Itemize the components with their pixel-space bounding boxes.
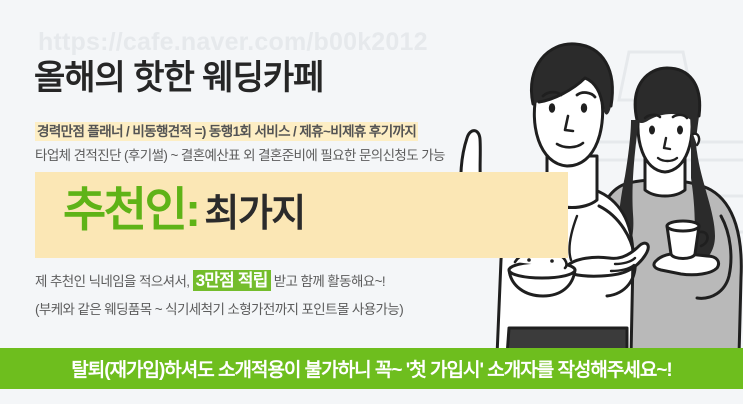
note-line-1-before: 제 추천인 닉네임을 적으셔서, bbox=[35, 274, 189, 289]
note-line-2: (부케와 같은 웨딩품목 ~ 식기세척기 소형가전까지 포인트몰 사용가능) bbox=[35, 298, 403, 318]
recommender-content: 추천인:최가지 bbox=[63, 186, 305, 233]
subtitle-line-2: 타업체 견적진단 (후기썰) ~ 결혼예산표 외 결혼준비에 필요한 문의신청도… bbox=[35, 144, 445, 164]
page-title: 올해의 핫한 웨딩카페 bbox=[34, 50, 323, 99]
subtitle-line-1-text: 경력만점 플래너 / 비동행견적 =) 동행1회 서비스 / 제휴~비제휴 후기… bbox=[35, 122, 418, 141]
footer-strip bbox=[0, 389, 743, 404]
recommender-name: 최가지 bbox=[204, 193, 304, 235]
promo-banner: https://cafe.naver.com/b00k2012 올해의 핫한 웨… bbox=[0, 0, 743, 404]
note-line-1: 제 추천인 닉네임을 적으셔서, 3만점 적립 받고 함께 활동해요~! bbox=[35, 266, 385, 291]
point-reward-badge: 3만점 적립 bbox=[193, 270, 271, 291]
note-line-1-after: 받고 함께 활동해요~! bbox=[274, 274, 385, 289]
recommender-label: 추천인: bbox=[63, 183, 198, 236]
recommender-band: 추천인:최가지 bbox=[35, 172, 568, 258]
subtitle-line-1: 경력만점 플래너 / 비동행견적 =) 동행1회 서비스 / 제휴~비제휴 후기… bbox=[35, 120, 418, 140]
cta-text: 탈퇴(재가입)하셔도 소개적용이 불가하니 꼭~ '첫 가입시' 소개자를 작성… bbox=[71, 355, 672, 382]
cta-bar: 탈퇴(재가입)하셔도 소개적용이 불가하니 꼭~ '첫 가입시' 소개자를 작성… bbox=[0, 348, 743, 389]
